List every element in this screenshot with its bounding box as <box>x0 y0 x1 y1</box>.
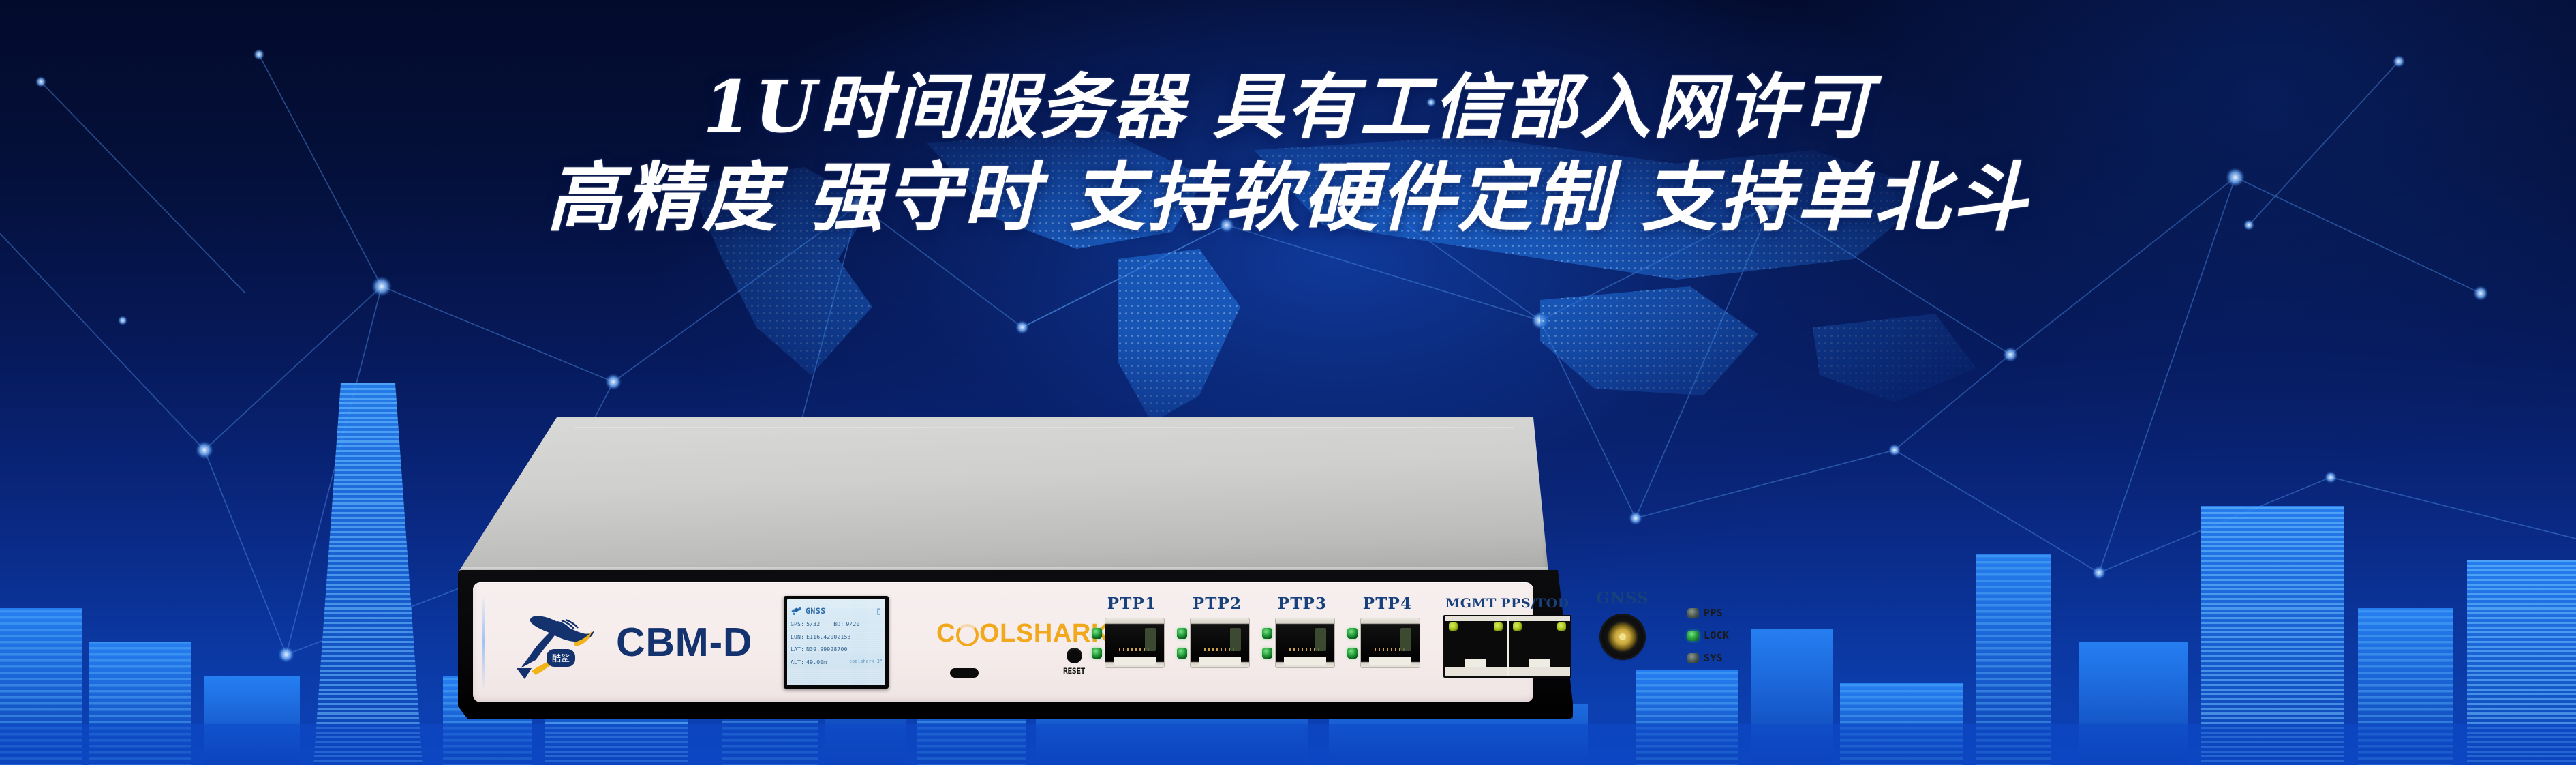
mgmt-ppstod-port-block: MGMT PPS/TOD <box>1443 586 1571 678</box>
chassis-top-lid <box>458 417 1548 575</box>
sys-led-label: SYS <box>1704 652 1723 664</box>
console-port[interactable] <box>950 668 979 678</box>
lcd-header: GNSS ▯ <box>787 601 885 620</box>
lcd-lat-key: LAT: <box>791 646 804 652</box>
lcd-gps-key: GPS: <box>791 621 804 627</box>
lcd-alt-value: 49.00m <box>806 659 827 665</box>
shark-logo-icon: 酷鲨 <box>504 603 607 682</box>
brand-logo-block: 酷鲨 CBM-D <box>504 597 763 687</box>
lcd-bd-key: BD: <box>833 621 844 627</box>
satellite-icon <box>791 605 803 616</box>
ptp-3-link-led <box>1262 628 1272 639</box>
mgmt-led-right <box>1494 622 1503 631</box>
ppstod-led-right <box>1557 622 1566 631</box>
ppstod-port-label: PPS/TOD <box>1501 596 1569 611</box>
lcd-bd-value: 9/20 <box>846 621 859 627</box>
lcd-screen[interactable]: GNSS ▯ GPS: 5/32 BD: 9/20 LON: E116.4200… <box>787 599 885 685</box>
lcd-footnote: coolshark 3" <box>849 659 883 665</box>
front-panel: 酷鲨 CBM-D GNSS ▯ <box>473 582 1533 702</box>
device-model-label: CBM-D <box>616 622 752 663</box>
lcd-lon-key: LON: <box>791 634 804 640</box>
status-row-lock: LOCK <box>1687 629 1729 642</box>
reset-control[interactable]: RESET <box>1054 648 1094 676</box>
rj45-pins-icon <box>1289 648 1319 651</box>
coolshark-ring-o-icon <box>956 624 979 646</box>
ptp-port-4-label: PTP4 <box>1347 596 1428 612</box>
ptp-port-3-label: PTP3 <box>1262 596 1343 612</box>
lock-led-icon <box>1687 631 1699 641</box>
reset-pinhole-icon[interactable] <box>1067 648 1082 663</box>
ptp-4-led-column <box>1347 628 1358 659</box>
lock-led-label: LOCK <box>1704 629 1729 642</box>
ppstod-led-left <box>1513 622 1522 631</box>
lcd-readout-rows: GPS: 5/32 BD: 9/20 LON: E116.42002153 LA… <box>791 621 883 672</box>
coolshark-wordmark: C OLSHARK <box>936 620 1110 646</box>
lcd-lat-value: N39.99928700 <box>806 646 847 652</box>
coolshark-text-part-1: C <box>936 620 955 646</box>
status-row-pps: PPS <box>1687 607 1729 619</box>
rj45-pins-icon <box>1204 648 1234 651</box>
lcd-screen-bezel: GNSS ▯ GPS: 5/32 BD: 9/20 LON: E116.4200… <box>784 596 889 689</box>
reset-label: RESET <box>1054 666 1094 676</box>
ptp-2-link-led <box>1177 628 1187 639</box>
lcd-row-altitude: ALT: 49.00m coolshark 3" <box>791 659 883 665</box>
coolshark-text-part-2: OLSHARK <box>979 620 1110 646</box>
gnss-connector-label: GNSS <box>1582 589 1663 607</box>
pps-led-icon <box>1687 608 1699 618</box>
ptp-port-3[interactable]: PTP3 <box>1262 596 1343 668</box>
banner-stage: 1U时间服务器 具有工信部入网许可 高精度 强守时 支持软硬件定制 支持单北斗 … <box>0 0 2576 765</box>
lcd-row-longitude: LON: E116.42002153 <box>791 634 883 640</box>
status-row-sys: SYS <box>1687 652 1729 664</box>
ptp-1-activity-led <box>1092 648 1102 659</box>
lcd-battery-glyph: ▯ <box>876 606 882 616</box>
ptp-port-2-label: PTP2 <box>1177 596 1257 612</box>
ptp-2-activity-led <box>1177 648 1187 659</box>
status-led-column: PPS LOCK SYS <box>1687 607 1729 664</box>
sys-led-icon <box>1687 653 1699 663</box>
gnss-antenna-block: GNSS <box>1582 589 1663 658</box>
ppstod-rj45-jack[interactable] <box>1507 616 1571 676</box>
ptp-2-led-column <box>1177 628 1187 659</box>
panel-sheen <box>482 595 485 690</box>
ptp-port-1-label: PTP1 <box>1092 596 1172 612</box>
ptp-3-rj45-jack[interactable] <box>1275 618 1335 668</box>
time-server-device: 酷鲨 CBM-D GNSS ▯ <box>458 417 1548 738</box>
mgmt-led-left <box>1449 622 1458 631</box>
mgmt-port-label: MGMT <box>1445 596 1497 611</box>
rj45-pins-icon <box>1119 648 1149 651</box>
ptp-1-led-column <box>1092 628 1102 659</box>
lcd-row-latitude: LAT: N39.99928700 <box>791 646 883 652</box>
ptp-port-4[interactable]: PTP4 <box>1347 596 1428 668</box>
lcd-alt-key: ALT: <box>791 659 804 665</box>
ptp-1-link-led <box>1092 628 1102 639</box>
lcd-gps-value: 5/32 <box>806 621 820 627</box>
ptp-port-group: PTP1 PTP2 <box>1092 596 1428 691</box>
ptp-3-led-column <box>1262 628 1272 659</box>
ptp-4-activity-led <box>1347 648 1358 659</box>
ptp-3-activity-led <box>1262 648 1272 659</box>
lcd-title: GNSS <box>806 606 826 616</box>
mgmt-rj45-jack[interactable] <box>1445 616 1507 676</box>
rj45-tab-icon <box>1465 659 1486 667</box>
ptp-port-2[interactable]: PTP2 <box>1177 596 1257 668</box>
gnss-sma-connector[interactable] <box>1601 616 1644 658</box>
ptp-1-rj45-jack[interactable] <box>1105 618 1165 668</box>
rj45-tab-icon <box>1529 659 1550 667</box>
logo-badge-text: 酷鲨 <box>552 654 570 664</box>
ptp-4-rj45-jack[interactable] <box>1360 618 1420 668</box>
pps-led-label: PPS <box>1704 607 1723 619</box>
lcd-lon-value: E116.42002153 <box>806 634 850 640</box>
ptp-4-link-led <box>1347 628 1358 639</box>
lcd-row-satellites: GPS: 5/32 BD: 9/20 <box>791 621 883 627</box>
rj45-pins-icon <box>1375 648 1405 651</box>
ptp-2-rj45-jack[interactable] <box>1190 618 1250 668</box>
lid-seam <box>574 427 1514 428</box>
ptp-port-1[interactable]: PTP1 <box>1092 596 1172 668</box>
